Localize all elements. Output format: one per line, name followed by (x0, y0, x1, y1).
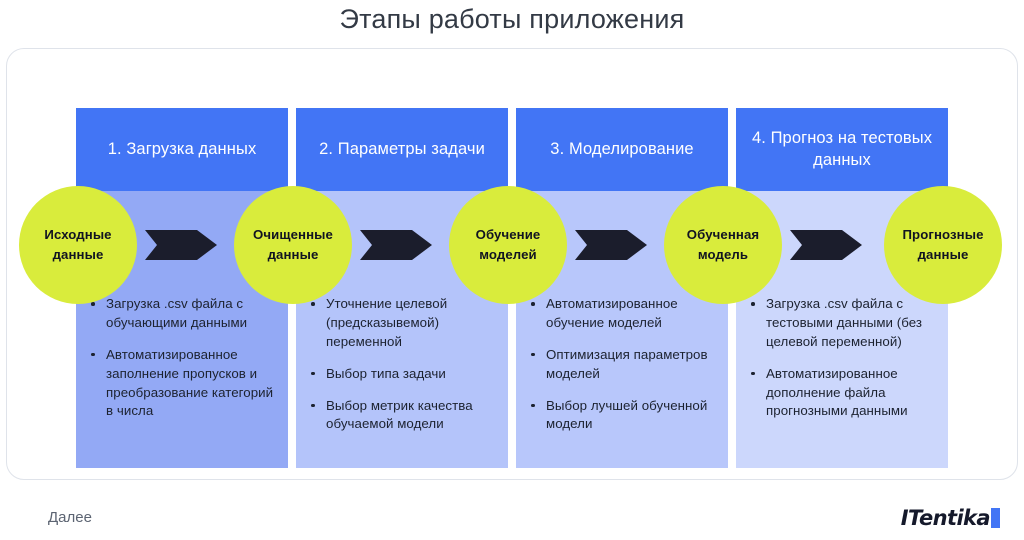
stage-header-1: 1. Загрузка данных (76, 108, 288, 191)
stage-bullet-list-3: Автоматизированное обучение моделейОптим… (526, 295, 718, 434)
bullet-dot-icon (531, 302, 535, 306)
bullet-text: Автоматизированное дополнение файла прог… (766, 366, 908, 419)
bullet-text: Оптимизация параметров моделей (546, 347, 708, 381)
logo-accent-block (991, 508, 1000, 528)
bullet-text: Выбор лучшей обученной модели (546, 398, 707, 432)
list-item: Загрузка .csv файла с тестовыми данными … (746, 295, 938, 352)
bullet-text: Уточнение целевой (предсказывемой) перем… (326, 296, 447, 349)
bullet-dot-icon (91, 302, 95, 306)
arrow-2-3-icon (360, 230, 432, 260)
list-item: Автоматизированное дополнение файла прог… (746, 365, 938, 422)
flow-node-1[interactable]: Исходные данные (19, 186, 137, 304)
bullet-dot-icon (311, 372, 315, 376)
list-item: Уточнение целевой (предсказывемой) перем… (306, 295, 498, 352)
bullet-text: Загрузка .csv файла с тестовыми данными … (766, 296, 922, 349)
stage-header-4: 4. Прогноз на тестовых данных (736, 108, 948, 191)
stage-bullet-list-1: Загрузка .csv файла с обучающими данными… (86, 295, 278, 421)
stage-bullet-list-2: Уточнение целевой (предсказывемой) перем… (306, 295, 498, 434)
bullet-dot-icon (311, 302, 315, 306)
bullet-dot-icon (751, 302, 755, 306)
flow-node-label: Обученная модель (664, 225, 782, 266)
bullet-text: Загрузка .csv файла с обучающими данными (106, 296, 247, 330)
list-item: Загрузка .csv файла с обучающими данными (86, 295, 278, 333)
flow-node-3[interactable]: Обучение моделей (449, 186, 567, 304)
flow-node-label: Прогнозные данные (884, 225, 1002, 266)
bullet-text: Выбор типа задачи (326, 366, 446, 381)
bullet-text: Автоматизированное обучение моделей (546, 296, 678, 330)
arrow-1-2-icon (145, 230, 217, 260)
logo-wordmark: ITentika (901, 506, 990, 530)
flow-node-5[interactable]: Прогнозные данные (884, 186, 1002, 304)
page-title: Этапы работы приложения (0, 4, 1024, 35)
list-item: Выбор типа задачи (306, 365, 498, 384)
bullet-dot-icon (311, 404, 315, 408)
flow-node-label: Обучение моделей (449, 225, 567, 266)
bullet-text: Автоматизированное заполнение пропусков … (106, 347, 273, 419)
stage-bullet-list-4: Загрузка .csv файла с тестовыми данными … (746, 295, 938, 421)
list-item: Выбор лучшей обученной модели (526, 397, 718, 435)
bullet-dot-icon (531, 353, 535, 357)
stage-header-3: 3. Моделирование (516, 108, 728, 191)
list-item: Автоматизированное обучение моделей (526, 295, 718, 333)
slide-canvas: Этапы работы приложения 1. Загрузка данн… (0, 0, 1024, 540)
bullet-dot-icon (91, 353, 95, 357)
next-label[interactable]: Далее (48, 509, 92, 526)
flow-node-label: Очищенные данные (234, 225, 352, 266)
arrow-4-5-icon (790, 230, 862, 260)
bullet-dot-icon (751, 372, 755, 376)
list-item: Выбор метрик качества обучаемой модели (306, 397, 498, 435)
list-item: Автоматизированное заполнение пропусков … (86, 346, 278, 422)
arrow-3-4-icon (575, 230, 647, 260)
company-logo: ITentika (901, 506, 1000, 530)
bullet-text: Выбор метрик качества обучаемой модели (326, 398, 473, 432)
bullet-dot-icon (531, 404, 535, 408)
stage-header-2: 2. Параметры задачи (296, 108, 508, 191)
flow-node-2[interactable]: Очищенные данные (234, 186, 352, 304)
flow-node-4[interactable]: Обученная модель (664, 186, 782, 304)
list-item: Оптимизация параметров моделей (526, 346, 718, 384)
flow-node-label: Исходные данные (19, 225, 137, 266)
